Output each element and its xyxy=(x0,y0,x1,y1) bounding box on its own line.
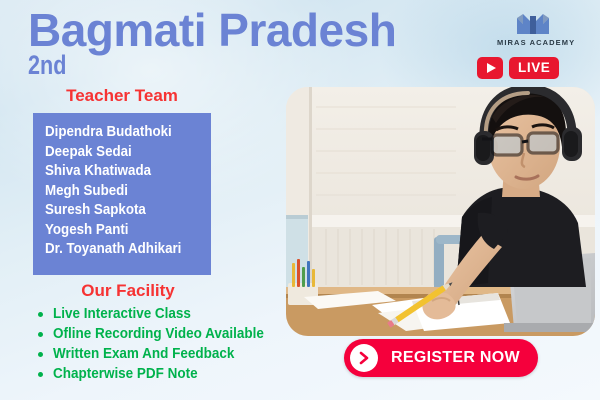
facility-item-label: Chapterwise PDF Note xyxy=(53,364,198,384)
facility-item-label: Written Exam And Feedback xyxy=(53,344,234,364)
bullet-icon xyxy=(38,332,43,337)
live-badge[interactable]: LIVE xyxy=(509,57,559,79)
register-now-label: REGISTER NOW xyxy=(391,349,520,367)
list-item: Chapterwise PDF Note xyxy=(38,364,280,384)
list-item: Dipendra Budathoki xyxy=(45,123,198,143)
teacher-team-list: Dipendra Budathoki Deepak Sedai Shiva Kh… xyxy=(33,113,211,275)
play-button[interactable] xyxy=(477,57,503,79)
bullet-icon xyxy=(38,372,43,377)
page-subtitle: 2nd xyxy=(28,52,66,79)
student-with-headphones-studying-photo xyxy=(286,87,595,336)
page-title: Bagmati Pradesh xyxy=(28,6,396,54)
bullet-icon xyxy=(38,312,43,317)
play-triangle-icon xyxy=(487,63,496,73)
facility-heading: Our Facility xyxy=(33,281,223,301)
list-item: Live Interactive Class xyxy=(38,304,280,324)
list-item: Dr. Toyanath Adhikari xyxy=(45,240,198,260)
list-item: Ofline Recording Video Available xyxy=(38,324,280,344)
live-label: LIVE xyxy=(518,61,550,75)
chevron-right-icon xyxy=(350,344,378,372)
list-item: Deepak Sedai xyxy=(45,143,198,163)
list-item: Megh Subedi xyxy=(45,182,198,202)
facility-item-label: Live Interactive Class xyxy=(53,304,191,324)
crown-m-monogram-icon xyxy=(513,10,553,36)
list-item: Yogesh Panti xyxy=(45,221,198,241)
list-item: Shiva Khatiwada xyxy=(45,162,198,182)
brand-logo: MIRAS ACADEMY xyxy=(497,10,569,47)
teacher-team-heading: Teacher Team xyxy=(33,86,211,106)
list-item: Suresh Sapkota xyxy=(45,201,198,221)
student-photo xyxy=(286,87,595,336)
facility-item-label: Ofline Recording Video Available xyxy=(53,324,264,344)
live-badge-group[interactable]: LIVE xyxy=(477,57,559,79)
brand-name: MIRAS ACADEMY xyxy=(497,38,569,47)
register-now-button[interactable]: REGISTER NOW xyxy=(344,339,538,377)
bullet-icon xyxy=(38,352,43,357)
promo-banner: Bagmati Pradesh 2nd MIRAS ACADEMY LIVE T… xyxy=(0,0,600,400)
list-item: Written Exam And Feedback xyxy=(38,344,280,364)
facility-list: Live Interactive Class Ofline Recording … xyxy=(38,304,280,384)
